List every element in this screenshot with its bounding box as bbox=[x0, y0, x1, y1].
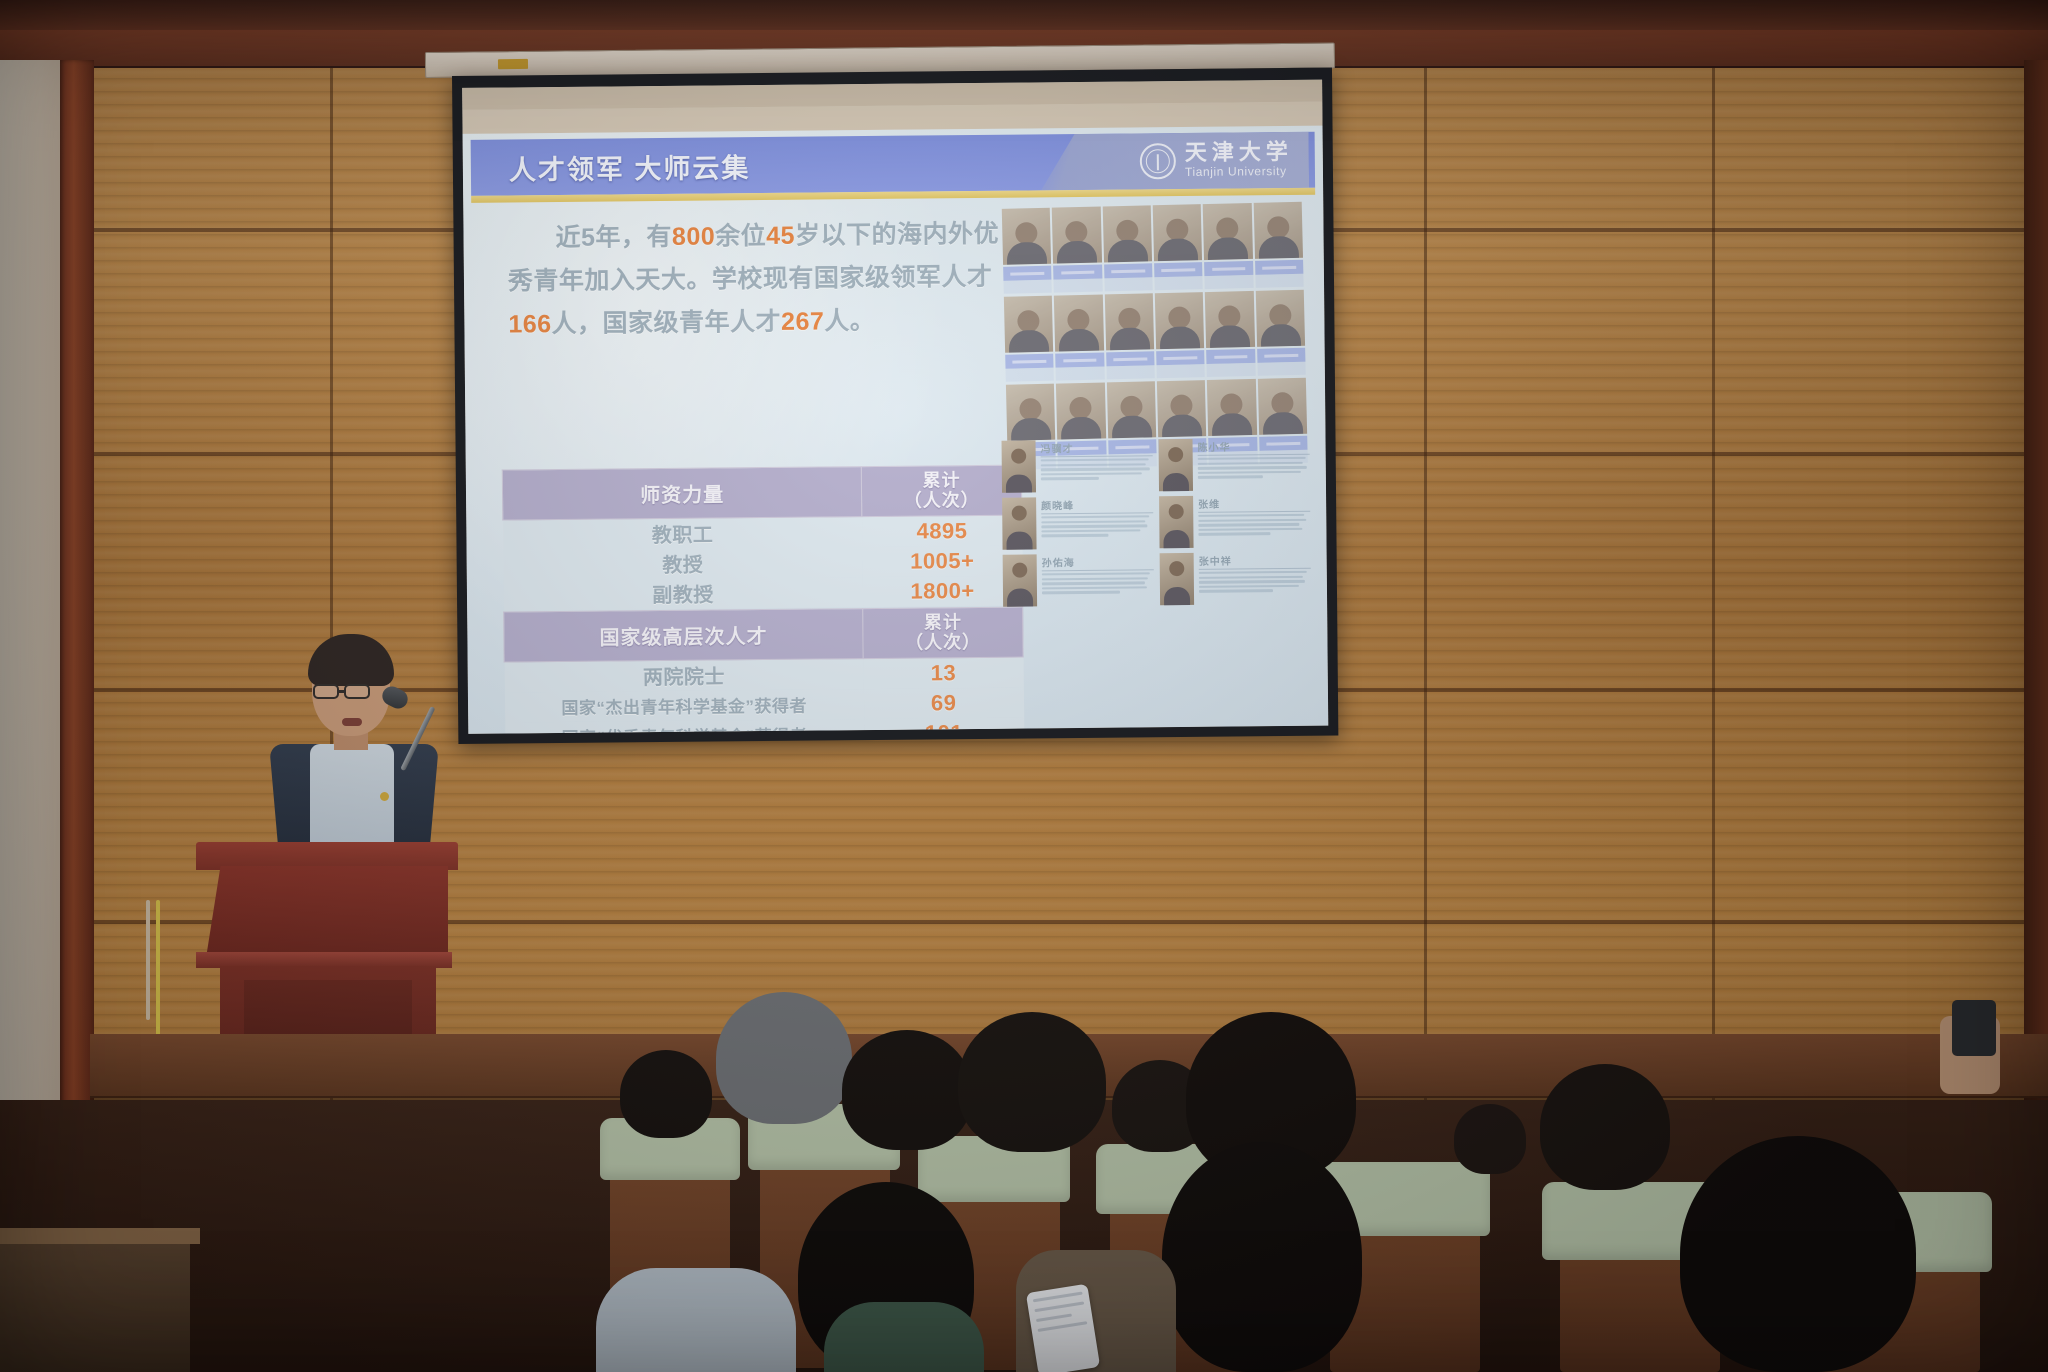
wall-cable bbox=[156, 900, 160, 1050]
audience-head bbox=[1454, 1104, 1526, 1174]
profile-card: 孙佑海 bbox=[1003, 553, 1154, 606]
profile-card: 张维 bbox=[1159, 495, 1310, 548]
photo-caption-row bbox=[1005, 348, 1306, 382]
row-label: 国家“杰出青年科学基金”获得者 bbox=[504, 689, 864, 722]
university-seal-icon bbox=[1140, 143, 1176, 179]
logo-name-en: Tianjin University bbox=[1185, 164, 1293, 179]
profile-card: 张中祥 bbox=[1160, 552, 1311, 605]
table-header-row: 师资力量 累计 （人次） bbox=[502, 465, 1021, 520]
slide-title: 人才领军 大师云集 bbox=[509, 146, 751, 187]
row-value: 13 bbox=[863, 657, 1023, 689]
lecture-hall-scene: 人才领军 大师云集 天津大学 Tianjin University 近5年，有8… bbox=[0, 0, 2048, 1372]
audience-head bbox=[716, 992, 852, 1124]
para-seg: 人。 bbox=[824, 307, 875, 335]
podium-front-panel bbox=[206, 866, 448, 958]
table2-header-count: 累计 （人次） bbox=[863, 607, 1023, 659]
profile-name: 冯骥才 bbox=[1041, 439, 1153, 457]
table-header-row: 国家级高层次人才 累计 （人次） bbox=[504, 607, 1023, 662]
projector-screen: 人才领军 大师云集 天津大学 Tianjin University 近5年，有8… bbox=[452, 68, 1338, 744]
photo-caption-row bbox=[1003, 260, 1304, 294]
table-row: 两院院士 13 bbox=[504, 657, 1023, 692]
profile-column-left: 冯骥才 颜晓峰 bbox=[1002, 439, 1155, 606]
lapel-pin bbox=[380, 792, 389, 801]
profile-photo bbox=[1159, 439, 1193, 491]
screen-surface: 人才领军 大师云集 天津大学 Tianjin University 近5年，有8… bbox=[462, 80, 1328, 734]
para-seg: 近5年，有 bbox=[555, 223, 672, 252]
audience-shoulders bbox=[596, 1268, 796, 1372]
scholar-portrait bbox=[1253, 202, 1303, 259]
scholar-portrait bbox=[1006, 384, 1056, 441]
photo-grid-row bbox=[1004, 290, 1305, 353]
header-count-line1: 累计 bbox=[862, 471, 1021, 492]
slide-paragraph: 近5年，有800余位45岁以下的海内外优秀青年加入天大。学校现有国家级领军人才1… bbox=[507, 213, 1008, 347]
profile-photo bbox=[1002, 440, 1036, 492]
scholar-photo-grid bbox=[1002, 202, 1307, 431]
profile-card: 陈小华 bbox=[1159, 438, 1310, 491]
profile-column-right: 陈小华 张维 bbox=[1159, 438, 1312, 605]
scholar-portrait bbox=[1207, 379, 1257, 436]
scholar-portrait bbox=[1205, 291, 1255, 348]
wall-cable bbox=[146, 900, 150, 1020]
row-label: 副教授 bbox=[503, 577, 862, 610]
row-value: 4895 bbox=[862, 515, 1022, 547]
national-talent-table: 国家级高层次人才 累计 （人次） 两院院士 13 国家“杰出青年科学基金”获得者… bbox=[503, 607, 1025, 734]
profile-photo bbox=[1159, 496, 1193, 548]
speaker-person bbox=[268, 640, 448, 850]
profile-name: 颜晓峰 bbox=[1041, 496, 1153, 514]
scholar-portrait bbox=[1157, 380, 1207, 437]
photo-grid-row bbox=[1002, 202, 1303, 265]
university-logo: 天津大学 Tianjin University bbox=[1041, 132, 1310, 191]
profile-name: 张维 bbox=[1198, 495, 1310, 513]
profile-photo bbox=[1003, 554, 1037, 606]
table-row: 国家“杰出青年科学基金”获得者 69 bbox=[504, 687, 1023, 722]
featured-scholar-profiles: 冯骥才 颜晓峰 bbox=[1002, 438, 1312, 607]
held-phone[interactable] bbox=[1952, 1000, 1996, 1056]
header-count-line2: （人次） bbox=[864, 632, 1023, 653]
scholar-portrait bbox=[1257, 378, 1307, 435]
scholar-portrait bbox=[1102, 205, 1152, 262]
row-value: 1800+ bbox=[863, 575, 1023, 607]
scholar-portrait bbox=[1054, 294, 1104, 351]
row-label: 教授 bbox=[503, 547, 862, 580]
scholar-portrait bbox=[1153, 204, 1203, 261]
para-highlight-166: 166 bbox=[508, 310, 551, 338]
side-table-edge bbox=[0, 1228, 200, 1244]
profile-name: 张中祥 bbox=[1199, 552, 1311, 570]
scholar-portrait bbox=[1056, 382, 1106, 439]
audience-head bbox=[1680, 1136, 1916, 1372]
scholar-portrait bbox=[1255, 290, 1305, 347]
eyeglasses-bridge bbox=[339, 690, 346, 693]
scholar-portrait bbox=[1002, 208, 1052, 265]
table-row: 副教授 1800+ bbox=[503, 575, 1022, 610]
header-count-line2: （人次） bbox=[862, 490, 1021, 511]
slide-title-bar: 人才领军 大师云集 天津大学 Tianjin University bbox=[471, 132, 1315, 196]
audience-head bbox=[1540, 1064, 1670, 1190]
row-label: 教职工 bbox=[503, 517, 862, 550]
photo-grid-row bbox=[1006, 378, 1307, 441]
ceiling-trim bbox=[0, 0, 2048, 30]
logo-name-cn: 天津大学 bbox=[1185, 141, 1293, 165]
para-seg: 余位 bbox=[715, 222, 766, 250]
audience-phone-screen[interactable] bbox=[1026, 1284, 1100, 1372]
profile-name: 陈小华 bbox=[1198, 438, 1310, 456]
para-highlight-45: 45 bbox=[766, 222, 795, 250]
table1-header-count: 累计 （人次） bbox=[861, 465, 1021, 517]
eyeglasses-icon bbox=[344, 684, 370, 699]
scholar-portrait bbox=[1155, 292, 1205, 349]
faculty-strength-table: 师资力量 累计 （人次） 教职工 4895 教授 1005+ bbox=[502, 465, 1023, 610]
scholar-portrait bbox=[1107, 381, 1157, 438]
wall-seam bbox=[1712, 60, 1715, 1132]
table2-header-label: 国家级高层次人才 bbox=[504, 609, 864, 662]
header-count-line1: 累计 bbox=[863, 613, 1022, 634]
speaker-mouth bbox=[342, 718, 362, 726]
presentation-slide: 人才领军 大师云集 天津大学 Tianjin University 近5年，有8… bbox=[463, 126, 1329, 734]
profile-photo bbox=[1002, 497, 1036, 549]
side-table bbox=[0, 1238, 190, 1372]
table1-header-label: 师资力量 bbox=[502, 467, 862, 520]
para-highlight-800: 800 bbox=[672, 222, 715, 250]
eyeglasses-icon bbox=[313, 684, 339, 699]
table-row: 教职工 4895 bbox=[503, 515, 1022, 550]
scholar-portrait bbox=[1052, 207, 1102, 264]
podium-top bbox=[196, 842, 458, 870]
audience-head bbox=[1162, 1142, 1362, 1372]
row-label: 两院院士 bbox=[504, 659, 864, 692]
row-label: 国家“优秀青年科学基金”获得者 bbox=[505, 719, 865, 734]
profile-name: 孙佑海 bbox=[1042, 553, 1154, 571]
table-row: 教授 1005+ bbox=[503, 545, 1022, 580]
row-value: 1005+ bbox=[862, 545, 1022, 577]
scholar-portrait bbox=[1004, 296, 1054, 353]
housing-badge bbox=[498, 59, 528, 69]
profile-photo bbox=[1160, 553, 1194, 605]
profile-card: 冯骥才 bbox=[1002, 439, 1153, 492]
audience-head bbox=[958, 1012, 1106, 1152]
scholar-portrait bbox=[1203, 203, 1253, 260]
row-value: 69 bbox=[864, 687, 1024, 719]
scholar-portrait bbox=[1104, 293, 1154, 350]
row-value: 101 bbox=[864, 717, 1024, 734]
para-highlight-267: 267 bbox=[781, 307, 824, 335]
wall-seam bbox=[1424, 60, 1427, 1132]
audience-shoulders bbox=[824, 1302, 984, 1372]
speaker-hair bbox=[308, 634, 394, 686]
profile-card: 颜晓峰 bbox=[1002, 496, 1153, 549]
audience-head bbox=[842, 1030, 972, 1150]
para-seg: 人，国家级青年人才 bbox=[551, 308, 781, 338]
audience-head bbox=[620, 1050, 712, 1138]
